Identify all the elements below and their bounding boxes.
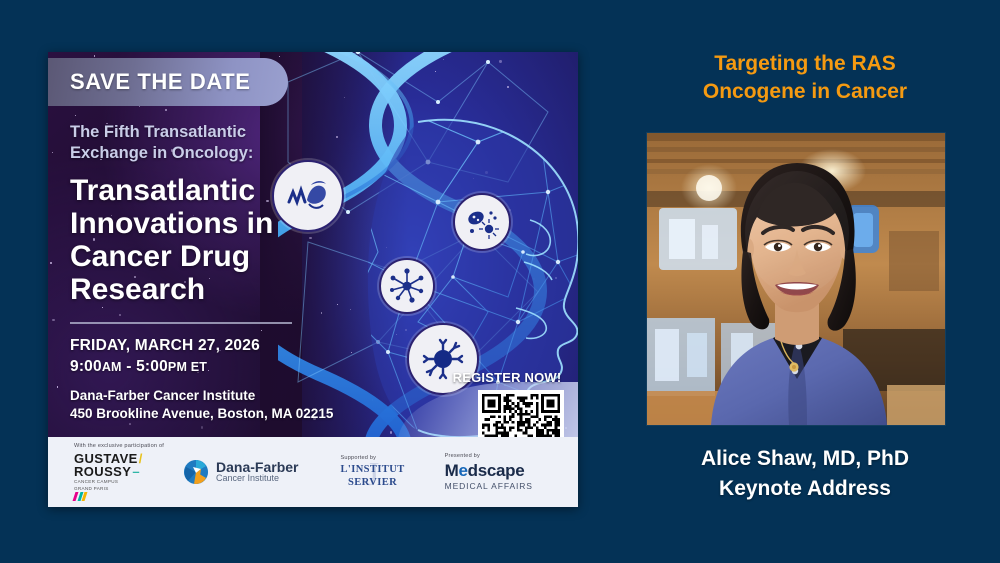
sponsor-gustave-roussy: With the exclusive participation of GUST… [74,443,164,501]
time-start-meridiem: AM [102,360,122,374]
speaker-photo-frame [647,133,945,425]
dana-farber-subtitle: Cancer Institute [216,474,298,484]
sponsor-bar: With the exclusive participation of GUST… [48,437,578,507]
flyer-text-block: The Fifth Transatlantic Exchange in Onco… [70,122,360,455]
dana-farber-name: Dana-Farber [216,460,298,475]
gustave-roussy-tagline2: GRAND PARIS [74,487,164,492]
event-date-text: FRIDAY, MARCH 27, 2026 [70,336,360,357]
event-flyer: SAVE THE DATE The Fifth Transatlantic Ex… [48,52,578,507]
institut-servier-logo: J L'INSTITUT SERVIER [340,464,404,488]
gustave-roussy-logo: GUSTAVE/ ROUSSY– CANCER CAMPUS GRAND PAR… [74,452,164,501]
speaker-photo [647,133,945,425]
topic-line2: Oncogene in Cancer [640,78,970,106]
slide-canvas: SAVE THE DATE The Fifth Transatlantic Ex… [0,0,1000,563]
medscape-e: e [458,461,467,480]
series-title: The Fifth Transatlantic Exchange in Onco… [70,122,360,164]
microbe-icon [453,193,511,251]
sponsor-dana-farber: Dana-Farber Cancer Institute [184,460,298,485]
time-end: 5:00 [136,358,168,375]
venue-address: 450 Brookline Avenue, Boston, MA 02215 [70,405,360,423]
save-the-date-label: SAVE THE DATE [70,69,251,95]
topic-line1: Targeting the RAS [640,50,970,78]
institut-servier-line1: L'INSTITUT [340,464,404,476]
medscape-rest: dscape [468,461,525,480]
event-title-line4: Research [70,273,360,306]
speaker-caption: Alice Shaw, MD, PhD Keynote Address [640,444,970,504]
medscape-m: M [445,461,459,480]
time-start: 9:00 [70,358,102,375]
divider [70,322,292,324]
gustave-roussy-line2: ROUSSY– [74,465,164,478]
gustave-roussy-word2: ROUSSY [74,465,131,478]
event-venue: Dana-Farber Cancer Institute 450 Brookli… [70,387,360,423]
sponsor-medscape: Presented by Medscape MEDICAL AFFAIRS [445,453,533,491]
sponsor-gustave-roussy-caption: With the exclusive participation of [74,443,164,449]
medscape-subtitle: MEDICAL AFFAIRS [445,481,533,491]
event-title-line2: Innovations in [70,207,360,240]
sponsor-medscape-caption: Presented by [445,453,533,459]
series-title-line1: The Fifth Transatlantic [70,122,360,143]
institut-servier-line2: SERVIER [340,477,404,489]
event-time: 9:00AM - 5:00PM ET [70,357,360,378]
gustave-roussy-word1: GUSTAVE [74,452,138,465]
register-now-label: REGISTER NOW! [448,370,566,385]
series-title-line2: Exchange in Oncology: [70,143,360,164]
gustave-roussy-tagline1: CANCER CAMPUS [74,480,164,485]
event-title-line3: Cancer Drug [70,240,360,273]
molecule-node-icon [379,258,435,314]
time-dash: - [126,358,131,375]
event-title: Transatlantic Innovations in Cancer Drug… [70,174,360,306]
sponsor-institut-servier: Supported by J L'INSTITUT SERVIER [340,455,404,488]
gustave-roussy-line1: GUSTAVE/ [74,452,164,465]
venue-name: Dana-Farber Cancer Institute [70,387,360,405]
speaker-name: Alice Shaw, MD, PhD [640,444,970,474]
event-title-line1: Transatlantic [70,174,360,207]
speaker-role: Keynote Address [640,474,970,504]
presentation-topic-title: Targeting the RAS Oncogene in Cancer [640,50,970,105]
medscape-wordmark: Medscape [445,462,533,479]
dana-farber-logo-mark [184,460,208,484]
time-end-meridiem: PM ET [168,360,207,374]
event-date: FRIDAY, MARCH 27, 2026 9:00AM - 5:00PM E… [70,336,360,378]
gustave-roussy-color-ticks [74,492,164,501]
save-the-date-badge: SAVE THE DATE [48,58,288,106]
